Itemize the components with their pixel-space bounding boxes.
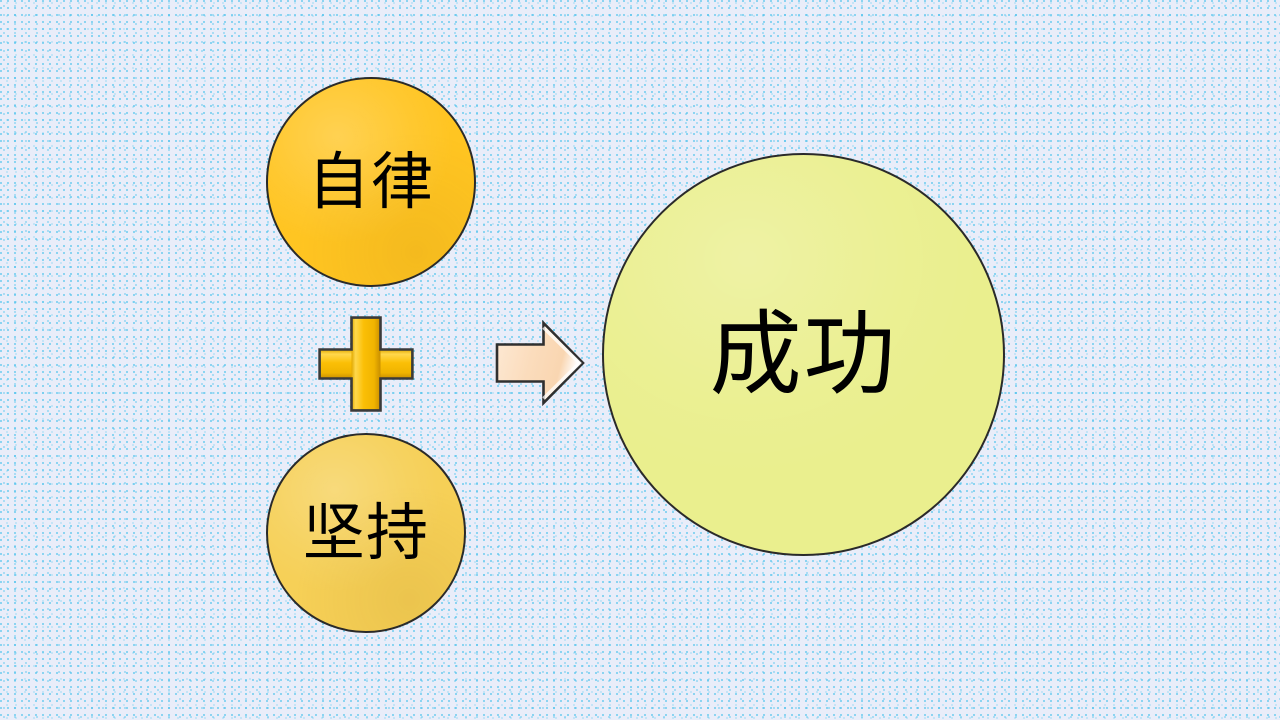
plus-icon-glyph [318,316,414,412]
circle-shape-persistence[interactable]: 坚持 [266,433,466,633]
circle-label-persistence: 坚持 [303,502,429,564]
plus-icon[interactable] [318,316,414,412]
circle-shape-success[interactable]: 成功 [602,153,1005,556]
circle-label-success: 成功 [710,309,898,401]
slide-canvas: 自律 [0,0,1280,720]
arrow-right-icon-glyph [494,320,586,406]
arrow-right-icon[interactable] [494,320,586,406]
circle-shape-discipline[interactable]: 自律 [266,77,476,287]
circle-label-discipline: 自律 [308,151,434,213]
